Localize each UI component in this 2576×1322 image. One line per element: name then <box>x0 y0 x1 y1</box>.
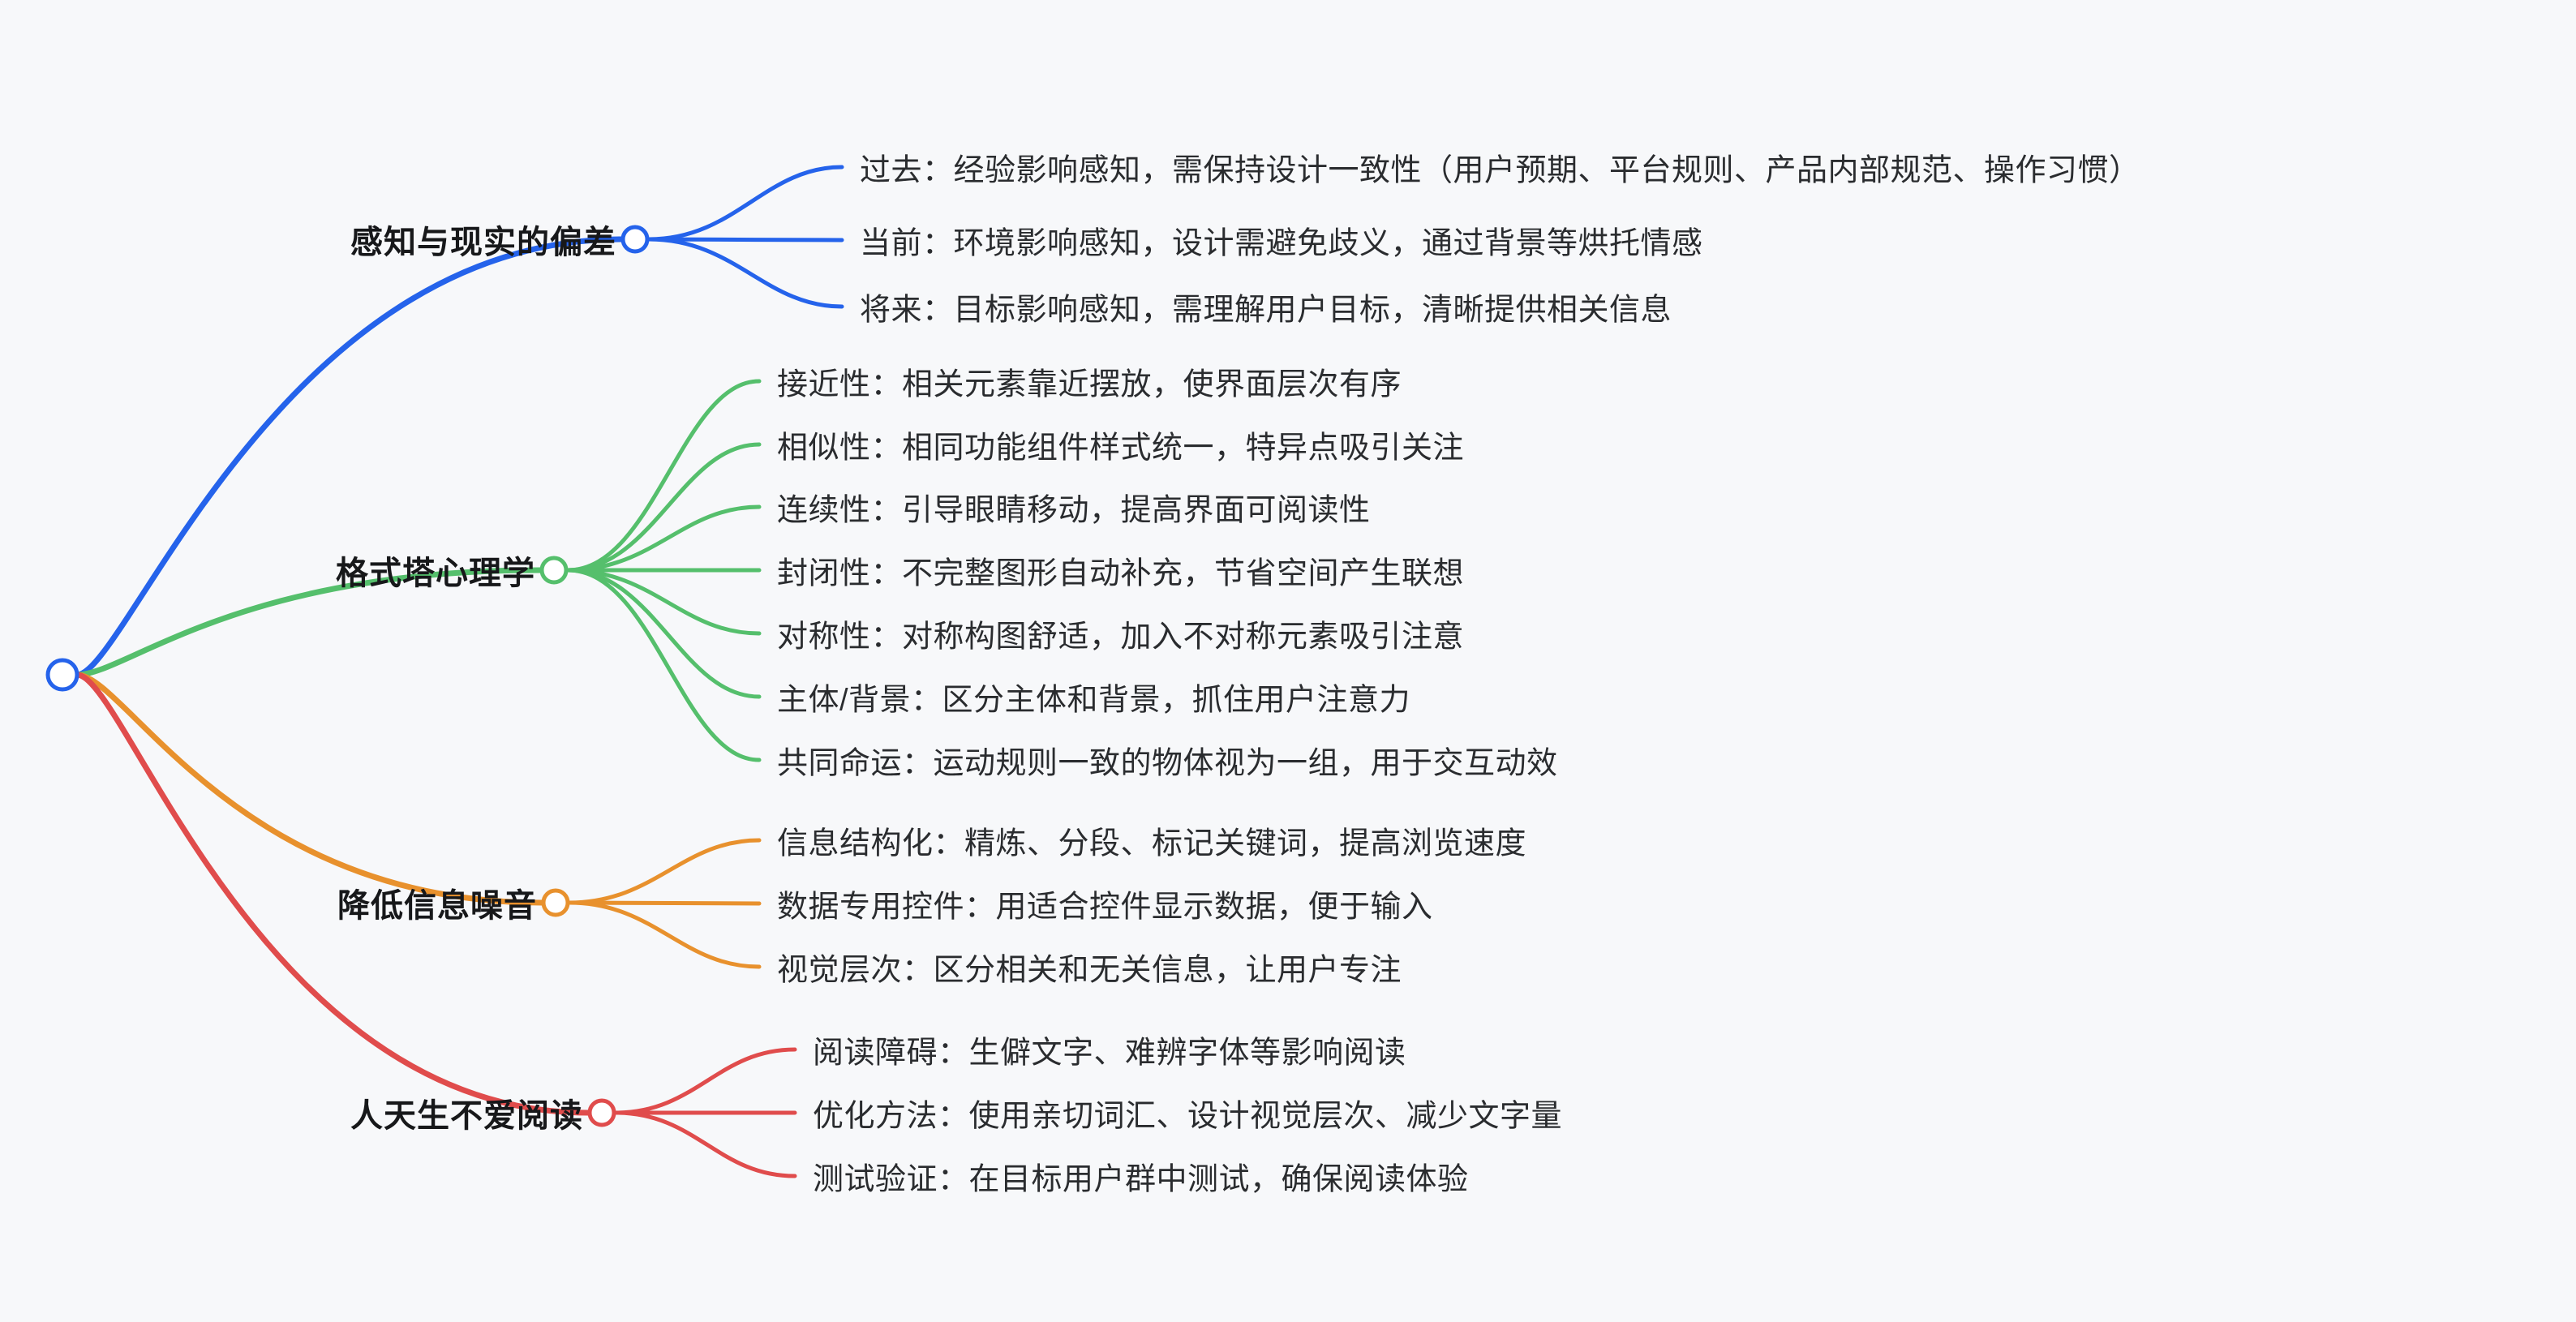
leaf-edge-2-2 <box>569 903 759 967</box>
leaf-edge-1-1 <box>568 444 759 570</box>
leaf-label-0-0[interactable]: 过去：经验影响感知，需保持设计一致性（用户预期、平台规则、产品内部规范、操作习惯… <box>860 145 2140 190</box>
leaf-edge-1-4 <box>568 570 759 633</box>
leaf-edge-3-2 <box>616 1113 795 1176</box>
leaf-edge-1-0 <box>568 381 759 570</box>
leaf-label-1-2[interactable]: 连续性：引导眼睛移动，提高界面可阅读性 <box>777 485 1371 530</box>
leaf-label-3-0[interactable]: 阅读障碍：生僻文字、难辨字体等影响阅读 <box>813 1028 1406 1072</box>
leaf-edge-1-6 <box>568 570 759 760</box>
leaf-edge-1-2 <box>568 507 759 570</box>
leaf-label-2-1[interactable]: 数据专用控件：用适合控件显示数据，便于输入 <box>777 882 1433 926</box>
leaf-label-2-2[interactable]: 视觉层次：区分相关和无关信息，让用户专注 <box>777 945 1402 989</box>
root-node[interactable] <box>48 660 77 689</box>
leaf-edge-3-0 <box>616 1049 795 1113</box>
branch-node-2[interactable] <box>543 891 568 915</box>
leaf-label-1-0[interactable]: 接近性：相关元素靠近摆放，使界面层次有序 <box>777 359 1402 404</box>
leaf-label-3-1[interactable]: 优化方法：使用亲切词汇、设计视觉层次、减少文字量 <box>813 1091 1562 1135</box>
leaf-label-1-3[interactable]: 封闭性：不完整图形自动补充，节省空间产生联想 <box>777 548 1464 593</box>
branch-label-3[interactable]: 人天生不爱阅读 <box>350 1089 583 1136</box>
leaf-label-0-2[interactable]: 将来：目标影响感知，需理解用户目标，清晰提供相关信息 <box>860 285 1672 329</box>
branch-node-1[interactable] <box>542 558 566 582</box>
branch-label-0[interactable]: 感知与现实的偏差 <box>350 216 616 263</box>
leaf-edge-2-1 <box>569 903 759 904</box>
leaf-label-2-0[interactable]: 信息结构化：精炼、分段、标记关键词，提高浏览速度 <box>777 818 1526 863</box>
leaf-label-1-5[interactable]: 主体/背景：区分主体和背景，抓住用户注意力 <box>777 675 1410 719</box>
branch-trunk-edge-2 <box>77 675 542 903</box>
leaf-label-1-1[interactable]: 相似性：相同功能组件样式统一，特异点吸引关注 <box>777 423 1464 467</box>
leaf-label-3-2[interactable]: 测试验证：在目标用户群中测试，确保阅读体验 <box>813 1154 1469 1199</box>
mindmap-canvas: 感知与现实的偏差过去：经验影响感知，需保持设计一致性（用户预期、平台规则、产品内… <box>0 0 2576 1322</box>
leaf-label-1-6[interactable]: 共同命运：运动规则一致的物体视为一组，用于交互动效 <box>777 738 1558 783</box>
leaf-edge-0-2 <box>649 239 842 307</box>
branch-trunk-edge-0 <box>77 239 621 675</box>
branch-node-3[interactable] <box>590 1101 614 1125</box>
leaf-label-1-4[interactable]: 对称性：对称构图舒适，加入不对称元素吸引注意 <box>777 612 1464 656</box>
branch-label-1[interactable]: 格式塔心理学 <box>336 547 535 594</box>
leaf-edge-2-0 <box>569 840 759 903</box>
leaf-edge-1-5 <box>568 570 759 697</box>
leaf-label-0-1[interactable]: 当前：环境影响感知，设计需避免歧义，通过背景等烘托情感 <box>860 218 1703 263</box>
branch-node-0[interactable] <box>623 227 647 251</box>
leaf-edge-0-0 <box>649 167 842 239</box>
branch-label-2[interactable]: 降低信息噪音 <box>337 879 537 926</box>
leaf-edge-0-1 <box>649 239 842 240</box>
